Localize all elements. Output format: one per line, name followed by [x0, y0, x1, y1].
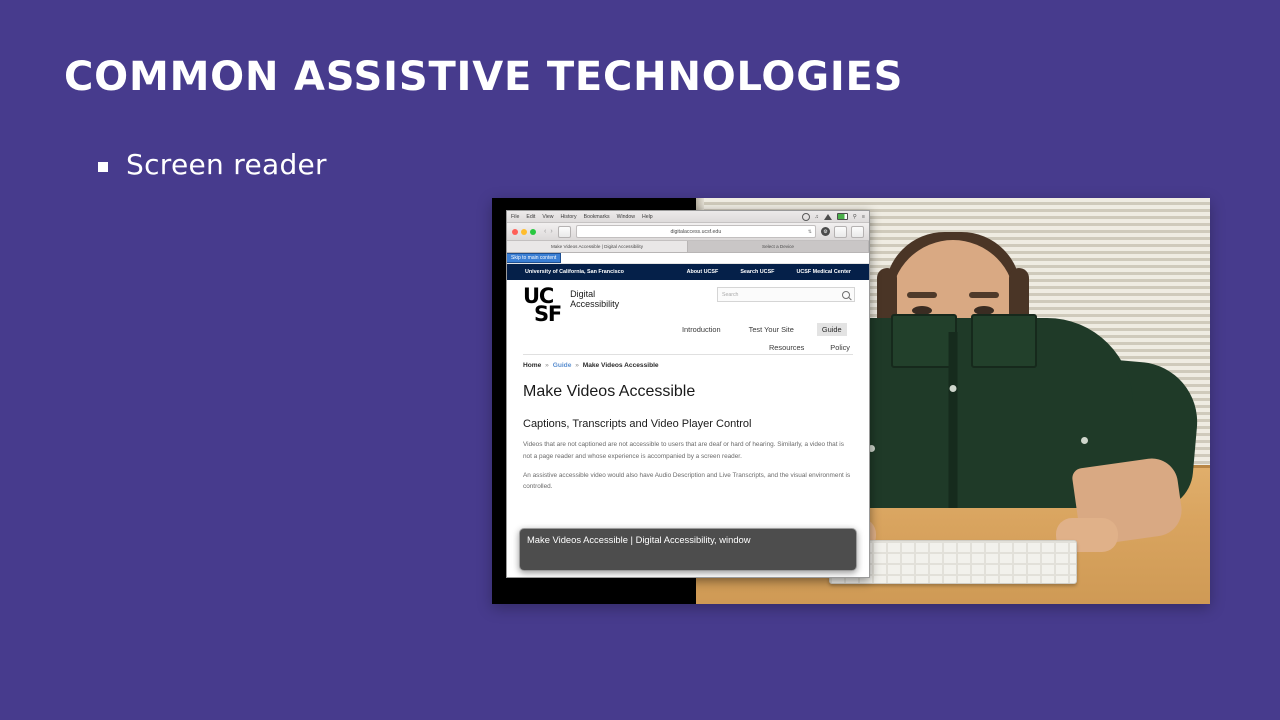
wifi-icon[interactable] [824, 214, 832, 220]
breadcrumb-separator: » [545, 362, 549, 369]
eyebrow-right [969, 292, 999, 298]
menu-bookmarks[interactable]: Bookmarks [584, 214, 610, 220]
embedded-video[interactable]: File Edit View History Bookmarks Window … [492, 198, 1210, 604]
site-nav-row-1[interactable]: Introduction Test Your Site Guide [677, 323, 847, 336]
dropbox-icon[interactable] [802, 213, 810, 221]
url-text: digitalaccess.ucsf.edu [670, 229, 721, 235]
tab-make-videos-accessible[interactable]: Make Videos Accessible | Digital Accessi… [507, 241, 688, 252]
site-name-line1: Digital [570, 289, 619, 299]
back-icon[interactable]: ‹ [544, 228, 546, 235]
content-heading-1: Make Videos Accessible [523, 383, 853, 401]
breadcrumb-current: Make Videos Accessible [583, 362, 659, 369]
share-icon[interactable] [834, 226, 847, 238]
browser-window[interactable]: File Edit View History Bookmarks Window … [506, 210, 870, 578]
tabs-icon[interactable] [851, 226, 864, 238]
bullet-label: Screen reader [126, 148, 327, 181]
pocket-button-right [1081, 437, 1088, 444]
mac-menu-bar[interactable]: File Edit View History Bookmarks Window … [507, 211, 869, 223]
ucsf-global-nav[interactable]: University of California, San Francisco … [507, 264, 869, 280]
shirt-pocket-right [971, 314, 1037, 368]
skip-to-main-content-link[interactable]: Skip to main content [507, 254, 560, 262]
zoom-icon[interactable] [530, 229, 536, 235]
nav-resources[interactable]: Resources [764, 341, 809, 354]
window-controls[interactable] [512, 229, 536, 235]
menu-file[interactable]: File [511, 214, 519, 220]
tab-strip[interactable]: Make Videos Accessible | Digital Accessi… [507, 241, 869, 253]
menu-extras-icon[interactable]: ≡ [862, 214, 865, 220]
forward-icon[interactable]: › [550, 228, 552, 235]
breadcrumb-separator: » [575, 362, 579, 369]
voiceover-caption-panel: Make Videos Accessible | Digital Accessi… [519, 528, 857, 571]
tab-label: Make Videos Accessible | Digital Accessi… [551, 244, 643, 249]
content-heading-2: Captions, Transcripts and Video Player C… [523, 418, 853, 431]
nav-policy[interactable]: Policy [825, 341, 855, 354]
search-placeholder: Search [722, 292, 738, 298]
breadcrumb[interactable]: Home » Guide » Make Videos Accessible [523, 354, 853, 369]
search-icon[interactable] [842, 291, 850, 299]
close-icon[interactable] [512, 229, 518, 235]
volume-icon[interactable]: ♫ [815, 214, 819, 220]
site-search-box[interactable]: Search [717, 287, 855, 302]
eyebrow-left [907, 292, 937, 298]
browser-toolbar[interactable]: ‹ › digitalaccess.ucsf.edu ⇅ ⚙ [507, 223, 869, 241]
settings-icon[interactable]: ⚙ [821, 227, 830, 236]
minimize-icon[interactable] [521, 229, 527, 235]
menu-window[interactable]: Window [617, 214, 635, 220]
nav-guide[interactable]: Guide [817, 323, 847, 336]
reload-icon[interactable]: ⇅ [808, 229, 812, 235]
site-nav-row-2[interactable]: Resources Policy [764, 341, 855, 354]
shirt-pocket-left [891, 314, 957, 368]
sidebar-icon[interactable] [558, 226, 571, 238]
navigation-arrows[interactable]: ‹ › [544, 228, 553, 235]
tab-select-a-device[interactable]: Select a Device [688, 241, 869, 252]
skip-link-row[interactable]: Skip to main content [507, 253, 869, 264]
breadcrumb-guide[interactable]: Guide [553, 362, 572, 369]
address-bar[interactable]: digitalaccess.ucsf.edu ⇅ [576, 225, 816, 238]
ucsf-logo[interactable]: UC SF [523, 288, 561, 323]
breadcrumb-home[interactable]: Home [523, 362, 541, 369]
page-title: COMMON ASSISTIVE TECHNOLOGIES [64, 54, 903, 100]
spotlight-search-icon[interactable]: ⚲ [853, 214, 857, 220]
ucsf-logo-line2: SF [534, 306, 561, 324]
menu-edit[interactable]: Edit [526, 214, 535, 220]
link-search-ucsf[interactable]: Search UCSF [740, 269, 774, 275]
page-content: Make Videos Accessible Captions, Transcr… [507, 369, 869, 492]
menu-help[interactable]: Help [642, 214, 653, 220]
link-about-ucsf[interactable]: About UCSF [687, 269, 719, 275]
university-name[interactable]: University of California, San Francisco [525, 269, 624, 275]
nav-introduction[interactable]: Introduction [677, 323, 726, 336]
toolbar-right-buttons[interactable]: ⚙ [821, 226, 864, 238]
site-name[interactable]: Digital Accessibility [570, 288, 619, 309]
bullet-square-icon [98, 162, 108, 172]
nav-test-your-site[interactable]: Test Your Site [744, 323, 799, 336]
link-ucsf-medical-center[interactable]: UCSF Medical Center [796, 269, 851, 275]
menu-bar-status-icons[interactable]: ♫ ⚲ ≡ [802, 213, 865, 221]
site-header: UC SF Digital Accessibility Search Intro… [507, 280, 869, 354]
content-paragraph-1: Videos that are not captioned are not ac… [523, 439, 853, 461]
shirt-button [950, 385, 957, 392]
menu-view[interactable]: View [542, 214, 553, 220]
shirt-placket [949, 332, 958, 508]
battery-icon[interactable] [837, 213, 848, 220]
menu-history[interactable]: History [560, 214, 576, 220]
content-paragraph-2: An assistive accessible video would also… [523, 470, 853, 492]
voiceover-caption-text: Make Videos Accessible | Digital Accessi… [527, 534, 849, 546]
tab-label: Select a Device [762, 244, 794, 249]
site-name-line2: Accessibility [570, 299, 619, 309]
list-item: Screen reader [98, 148, 327, 181]
